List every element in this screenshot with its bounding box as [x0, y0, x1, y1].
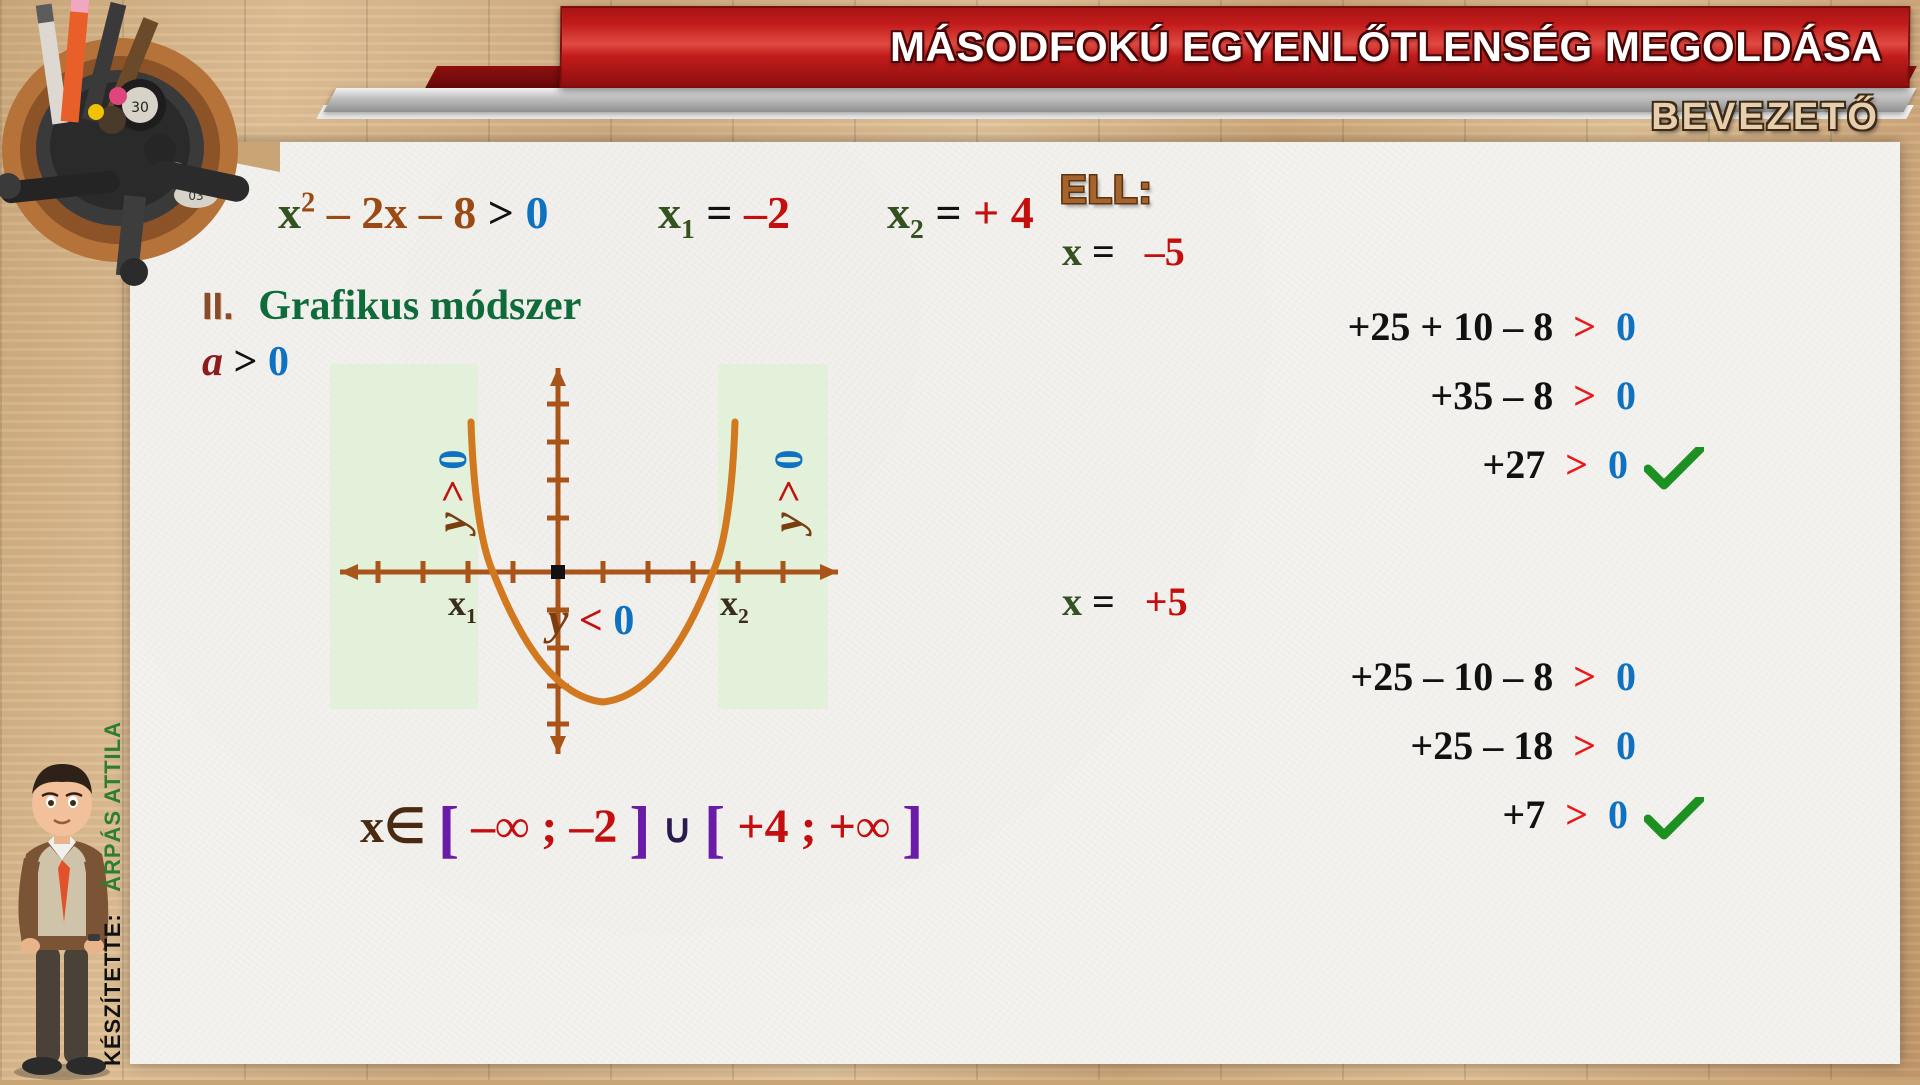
main-inequality: x2 – 2x – 8 > 0 — [278, 186, 548, 239]
right-band-y: y — [763, 512, 812, 532]
method-numeral: II. — [202, 286, 234, 328]
verification-case-1: x = –5 +25 + 10 – 8 > 0 +35 – 8 > 0 +27 … — [1010, 228, 1710, 491]
left-band-operator: > — [430, 480, 475, 503]
case1-line-3: +27 > 0 — [1010, 441, 1710, 491]
case2-x-label: x — [1062, 579, 1082, 624]
case1-line2-operator: > — [1573, 373, 1596, 418]
case2-line1-zero: 0 — [1616, 654, 1636, 699]
middle-zero: 0 — [613, 598, 634, 644]
case1-line3-zero: 0 — [1608, 442, 1628, 487]
case2-line3-lhs: +7 — [1502, 792, 1545, 837]
interval-neg-infinity: –∞ — [471, 800, 529, 853]
root-x1-label: x — [658, 187, 681, 238]
left-band-y: y — [427, 512, 476, 532]
root-x2-equals: = — [935, 187, 961, 238]
x1-tick-sub: 1 — [466, 604, 477, 628]
x2-tick-sub: 2 — [738, 604, 749, 628]
case2-equals: = — [1092, 579, 1115, 624]
left-band-zero: 0 — [430, 450, 475, 470]
case1-line3-operator: > — [1565, 442, 1588, 487]
right-band-label: y > 0 — [762, 450, 813, 532]
case1-line1-zero: 0 — [1616, 304, 1636, 349]
case2-checkmark-icon — [1638, 791, 1710, 841]
parabola-graph: y > 0 y > 0 y < 0 x1 x2 — [330, 364, 850, 764]
page-title: MÁSODFOKÚ EGYENLŐTLENSÉG MEGOLDÁSA — [890, 23, 1882, 71]
interval-close-bracket-2: ] — [902, 793, 923, 864]
verification-case-2: x = +5 +25 – 10 – 8 > 0 +25 – 18 > 0 +7 … — [1010, 578, 1710, 841]
root-x2-label: x — [887, 187, 910, 238]
case1-line1-lhs: +25 + 10 – 8 — [1348, 304, 1554, 349]
root-x2-axis-label: x2 — [720, 582, 749, 629]
case1-line3-lhs: +27 — [1482, 442, 1545, 487]
case1-line-1: +25 + 10 – 8 > 0 — [1010, 303, 1710, 350]
slide-content-area: x2 – 2x – 8 > 0 x1 = –2 x2 = + 4 II. Gra… — [130, 142, 1900, 1064]
interval-separator-1: ; — [541, 800, 557, 853]
interval-first-value: –2 — [569, 800, 617, 853]
leading-coefficient-condition: a > 0 — [202, 338, 289, 386]
credit-author-name: ÁRPÁS ATTILA — [100, 721, 125, 892]
interval-open-bracket-1: [ — [438, 793, 459, 864]
case2-line2-lhs: +25 – 18 — [1410, 723, 1553, 768]
middle-y: y — [548, 593, 568, 644]
case1-value: –5 — [1145, 229, 1185, 274]
case1-x-label: x — [1062, 229, 1082, 274]
interval-union-operator: ∪ — [663, 806, 692, 851]
inequality-operator: > — [488, 187, 514, 238]
root-x1-subscript: 1 — [681, 213, 695, 244]
author-credit: KÉSZÍTETTE: ÁRPÁS ATTILA — [100, 721, 126, 1066]
case2-line3-operator: > — [1565, 792, 1588, 837]
interval-close-bracket-1: ] — [629, 793, 650, 864]
case2-line-2: +25 – 18 > 0 — [1010, 722, 1710, 769]
case2-line2-operator: > — [1573, 723, 1596, 768]
svg-text:30: 30 — [131, 100, 149, 116]
section-badge: BEVEZETŐ — [1651, 96, 1880, 139]
case1-line2-zero: 0 — [1616, 373, 1636, 418]
case2-value: +5 — [1145, 579, 1188, 624]
pencil-cup-decoration: 30 03 — [0, 0, 270, 290]
case1-line-2: +35 – 8 > 0 — [1010, 372, 1710, 419]
interval-open-bracket-2: [ — [704, 793, 725, 864]
x2-tick-text: x — [720, 583, 738, 623]
case1-assignment: x = –5 — [1010, 228, 1710, 275]
case2-line1-operator: > — [1573, 654, 1596, 699]
case2-line3-zero: 0 — [1608, 792, 1628, 837]
case2-line-3: +7 > 0 — [1010, 791, 1710, 841]
inequality-x: x — [278, 187, 301, 238]
root-x1-equals: = — [706, 187, 732, 238]
coefficient-a-symbol: a — [202, 339, 223, 385]
inequality-term-2x: – 2x — [327, 187, 408, 238]
left-band-label: y > 0 — [426, 450, 477, 532]
middle-region-label: y < 0 — [548, 592, 634, 645]
case2-line-1: +25 – 10 – 8 > 0 — [1010, 653, 1710, 700]
middle-operator: < — [579, 598, 603, 644]
case2-line2-zero: 0 — [1616, 723, 1636, 768]
inequality-term-8: – 8 — [419, 187, 477, 238]
root-x2-subscript: 2 — [910, 213, 924, 244]
interval-x-in: x∈ — [360, 800, 426, 853]
header-banner: MÁSODFOKÚ EGYENLŐTLENSÉG MEGOLDÁSA — [560, 6, 1911, 88]
interval-pos-infinity: +∞ — [829, 800, 891, 853]
right-band-zero: 0 — [766, 450, 811, 470]
interval-second-value: +4 — [737, 800, 788, 853]
case1-line2-lhs: +35 – 8 — [1430, 373, 1553, 418]
coefficient-zero: 0 — [268, 339, 289, 385]
coefficient-operator: > — [234, 339, 258, 385]
verification-heading: ELL: — [1060, 168, 1153, 213]
roots-row: x1 = –2 x2 = + 4 — [658, 186, 1034, 245]
root-x1-axis-label: x1 — [448, 582, 477, 629]
interval-separator-2: ; — [801, 800, 817, 853]
case2-assignment: x = +5 — [1010, 578, 1710, 625]
inequality-zero: 0 — [525, 187, 548, 238]
method-title: Grafikus módszer — [258, 283, 581, 329]
right-band-operator: > — [766, 480, 811, 503]
case1-equals: = — [1092, 229, 1115, 274]
case1-checkmark-icon — [1638, 441, 1710, 491]
root-x1-value: –2 — [744, 187, 790, 238]
case2-line1-lhs: +25 – 10 – 8 — [1350, 654, 1553, 699]
inequality-exponent: 2 — [301, 188, 315, 219]
case1-line1-operator: > — [1573, 304, 1596, 349]
solution-interval: x∈ [ –∞ ; –2 ] ∪ [ +4 ; +∞ ] — [360, 792, 923, 866]
credit-label: KÉSZÍTETTE: — [100, 913, 125, 1066]
x1-tick-text: x — [448, 583, 466, 623]
